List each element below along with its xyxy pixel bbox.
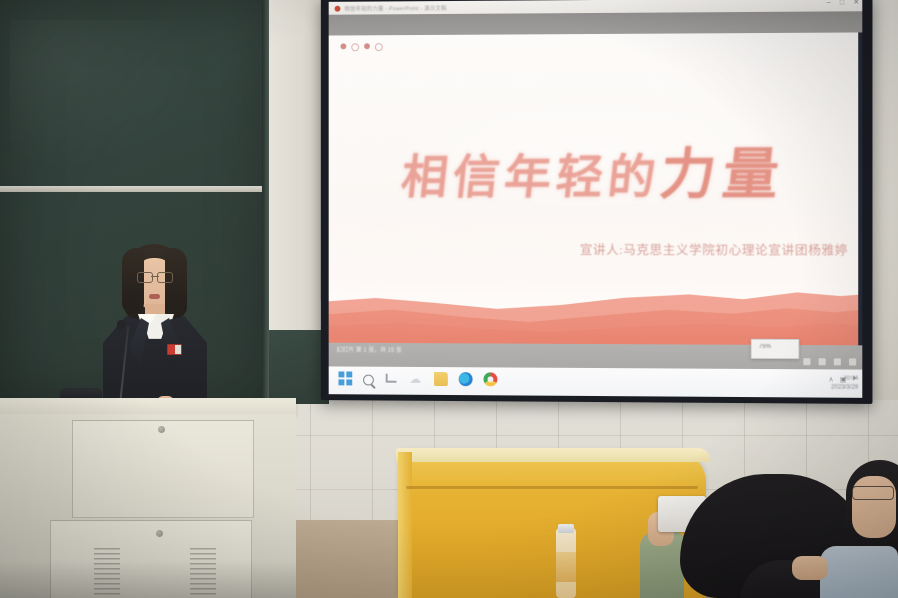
water-bottle-label <box>556 552 576 582</box>
chrome-icon[interactable] <box>484 372 498 386</box>
microphone-head <box>117 320 125 330</box>
presenter-mouth <box>149 294 160 299</box>
podium-shadow <box>0 560 296 598</box>
presenter-glasses <box>137 272 173 281</box>
app-icon <box>335 5 341 11</box>
podium-upper-panel <box>72 420 254 518</box>
window-controls: – □ ✕ <box>827 0 860 6</box>
minimize-button[interactable]: – <box>827 0 831 6</box>
audience-hand-right <box>792 556 828 580</box>
chalkboard-rail <box>0 186 268 192</box>
slide-title: 相信年轻的力量 <box>329 128 863 209</box>
dot-1 <box>340 43 346 49</box>
slide-title-main: 相信年轻的 <box>399 152 663 204</box>
maximize-button[interactable]: □ <box>840 0 844 6</box>
slide-decor-dots <box>340 43 382 51</box>
slide-counter: 幻灯片 第 1 张，共 15 张 <box>337 345 402 354</box>
file-explorer-icon[interactable] <box>434 372 448 386</box>
powerpoint-status-bar: 幻灯片 第 1 张，共 15 张 75% <box>329 343 863 370</box>
slide-title-accent: 力量 <box>657 144 789 205</box>
normal-view-icon[interactable] <box>803 358 810 365</box>
search-icon[interactable] <box>363 374 374 385</box>
chalkboard-frame <box>262 0 269 404</box>
projection-screen: 相信年轻的力量 - PowerPoint - 演示文稿 – □ ✕ 相信年轻 <box>329 0 863 398</box>
clock-date: 2023/3/29 <box>831 383 858 392</box>
zoom-tooltip: 75% <box>751 339 800 359</box>
chalkboard-glare <box>10 20 200 170</box>
slide-subtitle: 宣讲人:马克思主义学院初心理论宣讲团杨雅婷 <box>580 239 848 259</box>
powerpoint-ribbon[interactable] <box>329 11 863 35</box>
dot-4 <box>375 43 383 51</box>
dot-2 <box>351 43 359 51</box>
close-button[interactable]: ✕ <box>853 0 859 6</box>
clock[interactable]: 20:04 2023/3/29 <box>831 374 858 391</box>
presenter <box>95 244 215 420</box>
audience-glasses-right <box>852 486 894 500</box>
yellow-desk-groove <box>406 486 698 489</box>
party-badge <box>167 344 182 355</box>
slideshow-icon[interactable] <box>849 358 856 365</box>
presenter-hair-right <box>165 248 187 318</box>
reading-view-icon[interactable] <box>834 358 841 365</box>
edge-icon[interactable] <box>459 372 473 386</box>
clock-time: 20:04 <box>831 374 858 383</box>
podium-lock-lower <box>156 530 163 537</box>
water-bottle-cap <box>558 524 574 533</box>
weather-icon[interactable]: ☁ <box>409 372 423 386</box>
zoom-level: 75% <box>759 344 771 350</box>
classroom-photo-scene: 相信年轻的力量 - PowerPoint - 演示文稿 – □ ✕ 相信年轻 <box>0 0 898 598</box>
yellow-desk-top <box>396 448 710 462</box>
slide-canvas: 相信年轻的力量 宣讲人:马克思主义学院初心理论宣讲团杨雅婷 <box>329 32 863 345</box>
dot-3 <box>364 43 370 49</box>
wall-left-pillar <box>268 0 320 330</box>
projection-screen-bezel: 相信年轻的力量 - PowerPoint - 演示文稿 – □ ✕ 相信年轻 <box>321 0 873 404</box>
sorter-view-icon[interactable] <box>819 358 826 365</box>
task-view-icon[interactable] <box>385 372 399 386</box>
yellow-desk-left-edge <box>398 452 412 598</box>
podium-lock-upper <box>158 426 165 433</box>
slide-right-edge <box>858 32 862 345</box>
window-title: 相信年轻的力量 - PowerPoint - 演示文稿 <box>344 4 446 13</box>
taskbar-icons: ☁ <box>338 371 497 386</box>
view-mode-buttons[interactable] <box>803 358 856 365</box>
audience-body-right <box>820 546 898 598</box>
start-icon[interactable] <box>338 371 352 385</box>
windows-taskbar: ☁ ∧ ▣ ⏵ 20:04 2023/3/29 <box>329 366 863 397</box>
